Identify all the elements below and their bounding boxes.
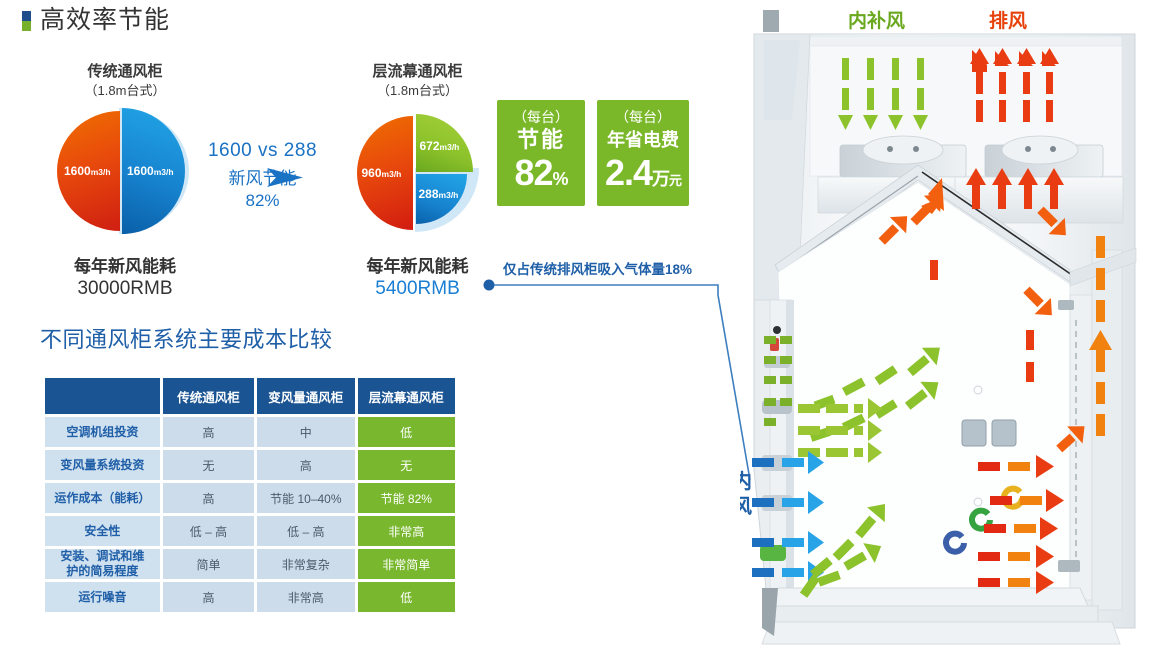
page-header: 高效率节能: [22, 8, 170, 33]
row-2-cell-2: 节能 82%: [358, 483, 455, 513]
comparison-saving-label: 新风节能: [195, 168, 330, 190]
table-row: 安全性 低 – 高 低 – 高 非常高: [45, 516, 455, 546]
row-1-cell-0: 无: [163, 450, 254, 480]
row-4-label-line1: 安装、调试和维: [45, 549, 160, 564]
chart-right-footer: 每年新风能耗 5400RMB: [330, 256, 505, 300]
table-row: 运行噪音 高 非常高 低: [45, 582, 455, 612]
section-bullet-icon: [22, 11, 31, 31]
comparison-table: 传统通风柜 变风量通风柜 层流幕通风柜 空调机组投资 高 中 低 变风量系统投资…: [42, 375, 458, 615]
comparison-ratio: 1600 vs 288: [195, 140, 330, 162]
badge-energy-saving: （每台） 节能 82%: [497, 100, 585, 206]
chart-left-title: 传统通风柜: [40, 62, 210, 81]
badge-0-value: 82%: [497, 154, 585, 198]
row-4-cell-1: 非常复杂: [257, 549, 354, 579]
chart-left-foot-value: 30000RMB: [40, 278, 210, 300]
row-5-cell-0: 高: [163, 582, 254, 612]
row-5-cell-2: 低: [358, 582, 455, 612]
pie-right-label-internal-makeup: 672m3/h: [420, 139, 460, 153]
badge-1-top: （每台）: [597, 108, 689, 126]
chart-right-title: 层流幕通风柜: [330, 62, 505, 81]
chart-left-footer: 每年新风能耗 30000RMB: [40, 256, 210, 300]
label-indoor-fresh-air-line2: 新风: [740, 495, 752, 520]
row-5-cell-1: 非常高: [257, 582, 354, 612]
fume-hood-illustration: [740, 0, 1149, 660]
label-indoor-fresh-air: 室内 新风: [740, 470, 752, 520]
chart-right-foot-label: 每年新风能耗: [330, 256, 505, 278]
chart-left-subtitle: （1.8m台式）: [40, 81, 210, 100]
row-0-cell-2: 低: [358, 417, 455, 447]
chart-laminar-hood: 层流幕通风柜 （1.8m台式） 960m3/h 672m3/h 288m3/h …: [330, 62, 505, 300]
row-4-label: 安装、调试和维 护的简易程度: [45, 549, 160, 579]
table-row: 空调机组投资 高 中 低: [45, 417, 455, 447]
infographic-page: 高效率节能 传统通风柜 （1.8m台式） 1600m3/h 1600m3/h 每…: [0, 0, 1149, 660]
row-5-label: 运行噪音: [45, 582, 160, 612]
chart-right-subtitle: （1.8m台式）: [330, 81, 505, 100]
pie-right-label-exhaust: 960m3/h: [362, 166, 402, 180]
highlight-badges: （每台） 节能 82% （每台） 年省电费 2.4万元: [497, 100, 689, 206]
table-row: 变风量系统投资 无 高 无: [45, 450, 455, 480]
row-4-cell-0: 简单: [163, 549, 254, 579]
row-0-label: 空调机组投资: [45, 417, 160, 447]
table-col-0: [45, 378, 160, 414]
pie-right-label-fresh-air: 288m3/h: [419, 187, 459, 201]
row-1-label: 变风量系统投资: [45, 450, 160, 480]
table-section-title: 不同通风柜系统主要成本比较: [40, 322, 333, 354]
table-header-row: 传统通风柜 变风量通风柜 层流幕通风柜: [45, 378, 455, 414]
table-col-2: 变风量通风柜: [257, 378, 354, 414]
table-row: 运作成本（能耗） 高 节能 10–40% 节能 82%: [45, 483, 455, 513]
row-3-cell-0: 低 – 高: [163, 516, 254, 546]
callout-leader-line: [480, 270, 760, 500]
label-indoor-fresh-air-line1: 室内: [740, 470, 752, 495]
row-0-cell-1: 中: [257, 417, 354, 447]
fume-hood-diagram: 内补风 排风 室内 新风: [740, 0, 1149, 660]
badge-1-mid: 年省电费: [597, 126, 689, 154]
chart-left-caption: 传统通风柜 （1.8m台式）: [40, 62, 210, 100]
comparison-saving-value: 82%: [195, 190, 330, 212]
row-0-cell-0: 高: [163, 417, 254, 447]
pie-chart-left: 1600m3/h 1600m3/h: [57, 108, 193, 234]
pie-left-label-makeup: 1600m3/h: [127, 164, 174, 178]
table-row: 安装、调试和维 护的简易程度 简单 非常复杂 非常简单: [45, 549, 455, 579]
page-title: 高效率节能: [40, 8, 170, 33]
chart-traditional-hood: 传统通风柜 （1.8m台式） 1600m3/h 1600m3/h 每年新风能耗 …: [40, 62, 210, 300]
table-col-1: 传统通风柜: [163, 378, 254, 414]
badge-0-mid: 节能: [497, 126, 585, 154]
badge-annual-saving: （每台） 年省电费 2.4万元: [597, 100, 689, 206]
chart-right-foot-value: 5400RMB: [330, 278, 505, 300]
row-3-cell-1: 低 – 高: [257, 516, 354, 546]
chart-right-caption: 层流幕通风柜 （1.8m台式）: [330, 62, 505, 100]
label-exhaust-air: 排风: [989, 6, 1027, 33]
row-4-cell-2: 非常简单: [358, 549, 455, 579]
comparison-middle: 1600 vs 288 新风节能 82%: [195, 140, 330, 212]
row-4-label-line2: 护的简易程度: [45, 564, 160, 579]
pie-chart-right: 960m3/h 672m3/h 288m3/h: [357, 114, 479, 232]
label-internal-makeup-air: 内补风: [848, 6, 905, 33]
row-1-cell-2: 无: [358, 450, 455, 480]
row-2-label: 运作成本（能耗）: [45, 483, 160, 513]
chart-left-foot-label: 每年新风能耗: [40, 256, 210, 278]
row-3-label: 安全性: [45, 516, 160, 546]
row-1-cell-1: 高: [257, 450, 354, 480]
badge-1-value: 2.4万元: [597, 154, 689, 200]
badge-0-top: （每台）: [497, 108, 585, 126]
pie-left-label-exhaust: 1600m3/h: [64, 164, 111, 178]
row-2-cell-0: 高: [163, 483, 254, 513]
row-3-cell-2: 非常高: [358, 516, 455, 546]
table-col-3: 层流幕通风柜: [358, 378, 455, 414]
row-2-cell-1: 节能 10–40%: [257, 483, 354, 513]
